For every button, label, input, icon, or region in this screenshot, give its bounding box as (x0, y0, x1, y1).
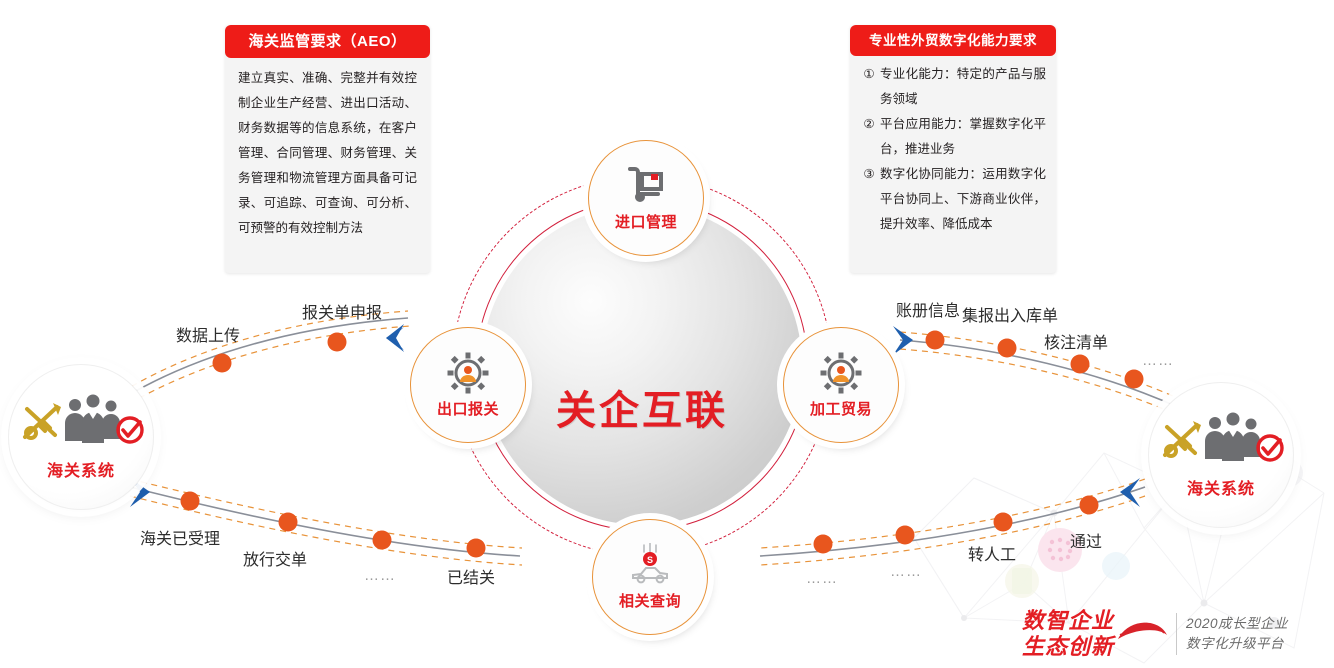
list-item-number: ③ (858, 162, 880, 237)
logo-divider (1176, 613, 1177, 655)
flow-label-customs-accepted: 海关已受理 (140, 525, 220, 549)
customs-emblem-people-check-icon (17, 393, 145, 451)
flow-dot (896, 526, 915, 545)
flow-label-declaration-filing: 报关单申报 (302, 299, 382, 323)
brand-logo-words: 数智企业 生态创新 (1022, 608, 1114, 660)
flow-dot (926, 331, 945, 350)
list-item-text: 专业化能力：特定的产品与服务领域 (880, 62, 1046, 112)
brand-logo-line1: 数智企业 (1022, 608, 1114, 634)
list-item: ③ 数字化协同能力：运用数字化平台协同上、下游商业伙伴，提升效率、降低成本 (858, 162, 1046, 237)
page-title: 关企互联 (482, 378, 802, 436)
flow-label-release-delivery: 放行交单 (243, 546, 307, 570)
flow-dot (279, 513, 298, 532)
node-processing-trade[interactable]: 加工贸易 (783, 327, 899, 443)
brand-tagline-line2: 数字化升级平台 (1186, 634, 1288, 654)
node-import-management[interactable]: 进口管理 (588, 140, 704, 256)
flow-label-verification-list: 核注清单 (1044, 329, 1108, 353)
flow-label-manual-transfer: 转人工 (968, 541, 1016, 565)
info-card-digital-capability: 专业性外贸数字化能力要求 ① 专业化能力：特定的产品与服务领域 ② 平台应用能力… (850, 25, 1056, 273)
arrow-right-icon (893, 326, 913, 355)
node-label: 加工贸易 (810, 398, 872, 419)
list-item-text: 平台应用能力：掌握数字化平台，推进业务 (880, 112, 1046, 162)
flow-label-ellipsis: …… (364, 567, 396, 584)
flow-label-passed: 通过 (1070, 528, 1102, 552)
customs-system-left[interactable]: 海关系统 (8, 364, 154, 510)
arrow-left-icon (386, 327, 404, 350)
brand-logo: 数智企业 生态创新 2020成长型企业 数字化升级平台 (1022, 608, 1288, 660)
gear-person-icon (820, 352, 862, 394)
brand-logo-line2: 生态创新 (1022, 634, 1114, 660)
flow-path-top-right (893, 326, 1182, 417)
flow-dot (328, 333, 347, 352)
list-item-number: ① (858, 62, 880, 112)
node-label: 进口管理 (615, 211, 677, 232)
flow-path-bottom-left (130, 478, 522, 565)
customs-system-label: 海关系统 (47, 457, 115, 481)
info-card-digital-capability-body: ① 专业化能力：特定的产品与服务领域 ② 平台应用能力：掌握数字化平台，推进业务… (850, 56, 1056, 243)
flow-label-ellipsis: …… (806, 570, 838, 587)
flow-dot (994, 513, 1013, 532)
info-card-digital-capability-title: 专业性外贸数字化能力要求 (850, 25, 1056, 56)
flow-dot (181, 492, 200, 511)
flow-dot (1071, 355, 1090, 374)
node-label: 出口报关 (437, 398, 499, 419)
node-label: 相关查询 (619, 590, 681, 611)
flow-label-closed: 已结关 (447, 564, 495, 588)
flow-dot (213, 354, 232, 373)
car-coin-icon: S (625, 544, 675, 586)
brand-tagline-line1: 2020成长型企业 (1186, 614, 1288, 634)
info-card-aeo: 海关监管要求（AEO） 建立真实、准确、完整并有效控制企业生产经营、进出口活动、… (225, 25, 430, 273)
list-item-number: ② (858, 112, 880, 162)
brand-logo-tagline: 2020成长型企业 数字化升级平台 (1186, 614, 1288, 654)
hand-truck-icon (624, 165, 668, 207)
customs-system-right[interactable]: 海关系统 (1148, 382, 1294, 528)
customs-emblem-people-check-icon (1157, 411, 1285, 469)
info-card-aeo-body: 建立真实、准确、完整并有效控制企业生产经营、进出口活动、财务数据等的信息系统，在… (225, 58, 430, 249)
info-card-aeo-title: 海关监管要求（AEO） (225, 25, 430, 58)
arrow-left-icon (1120, 478, 1140, 507)
flow-dot (373, 531, 392, 550)
node-export-declaration[interactable]: 出口报关 (410, 327, 526, 443)
list-item: ② 平台应用能力：掌握数字化平台，推进业务 (858, 112, 1046, 162)
node-related-query[interactable]: S 相关查询 (592, 519, 708, 635)
flow-label-ellipsis: …… (1142, 352, 1174, 369)
customs-system-label: 海关系统 (1187, 475, 1255, 499)
svg-text:S: S (647, 555, 653, 565)
flow-dot (814, 535, 833, 554)
list-item-text: 数字化协同能力：运用数字化平台协同上、下游商业伙伴，提升效率、降低成本 (880, 162, 1046, 237)
brand-swoosh-icon (1114, 613, 1170, 655)
flow-dot (1125, 370, 1144, 389)
flow-dot (998, 339, 1017, 358)
flow-label-batch-io-list: 集报出入库单 (962, 302, 1058, 326)
flow-label-ledger-info: 账册信息 (896, 297, 960, 321)
flow-dot (467, 539, 486, 558)
flow-dot (1080, 496, 1099, 515)
flow-path-top-left (120, 311, 410, 409)
diagram-canvas: 海关监管要求（AEO） 建立真实、准确、完整并有效控制企业生产经营、进出口活动、… (0, 0, 1334, 668)
list-item: ① 专业化能力：特定的产品与服务领域 (858, 62, 1046, 112)
flow-label-data-upload: 数据上传 (176, 322, 240, 346)
flow-label-ellipsis: …… (890, 563, 922, 580)
gear-person-icon (447, 352, 489, 394)
